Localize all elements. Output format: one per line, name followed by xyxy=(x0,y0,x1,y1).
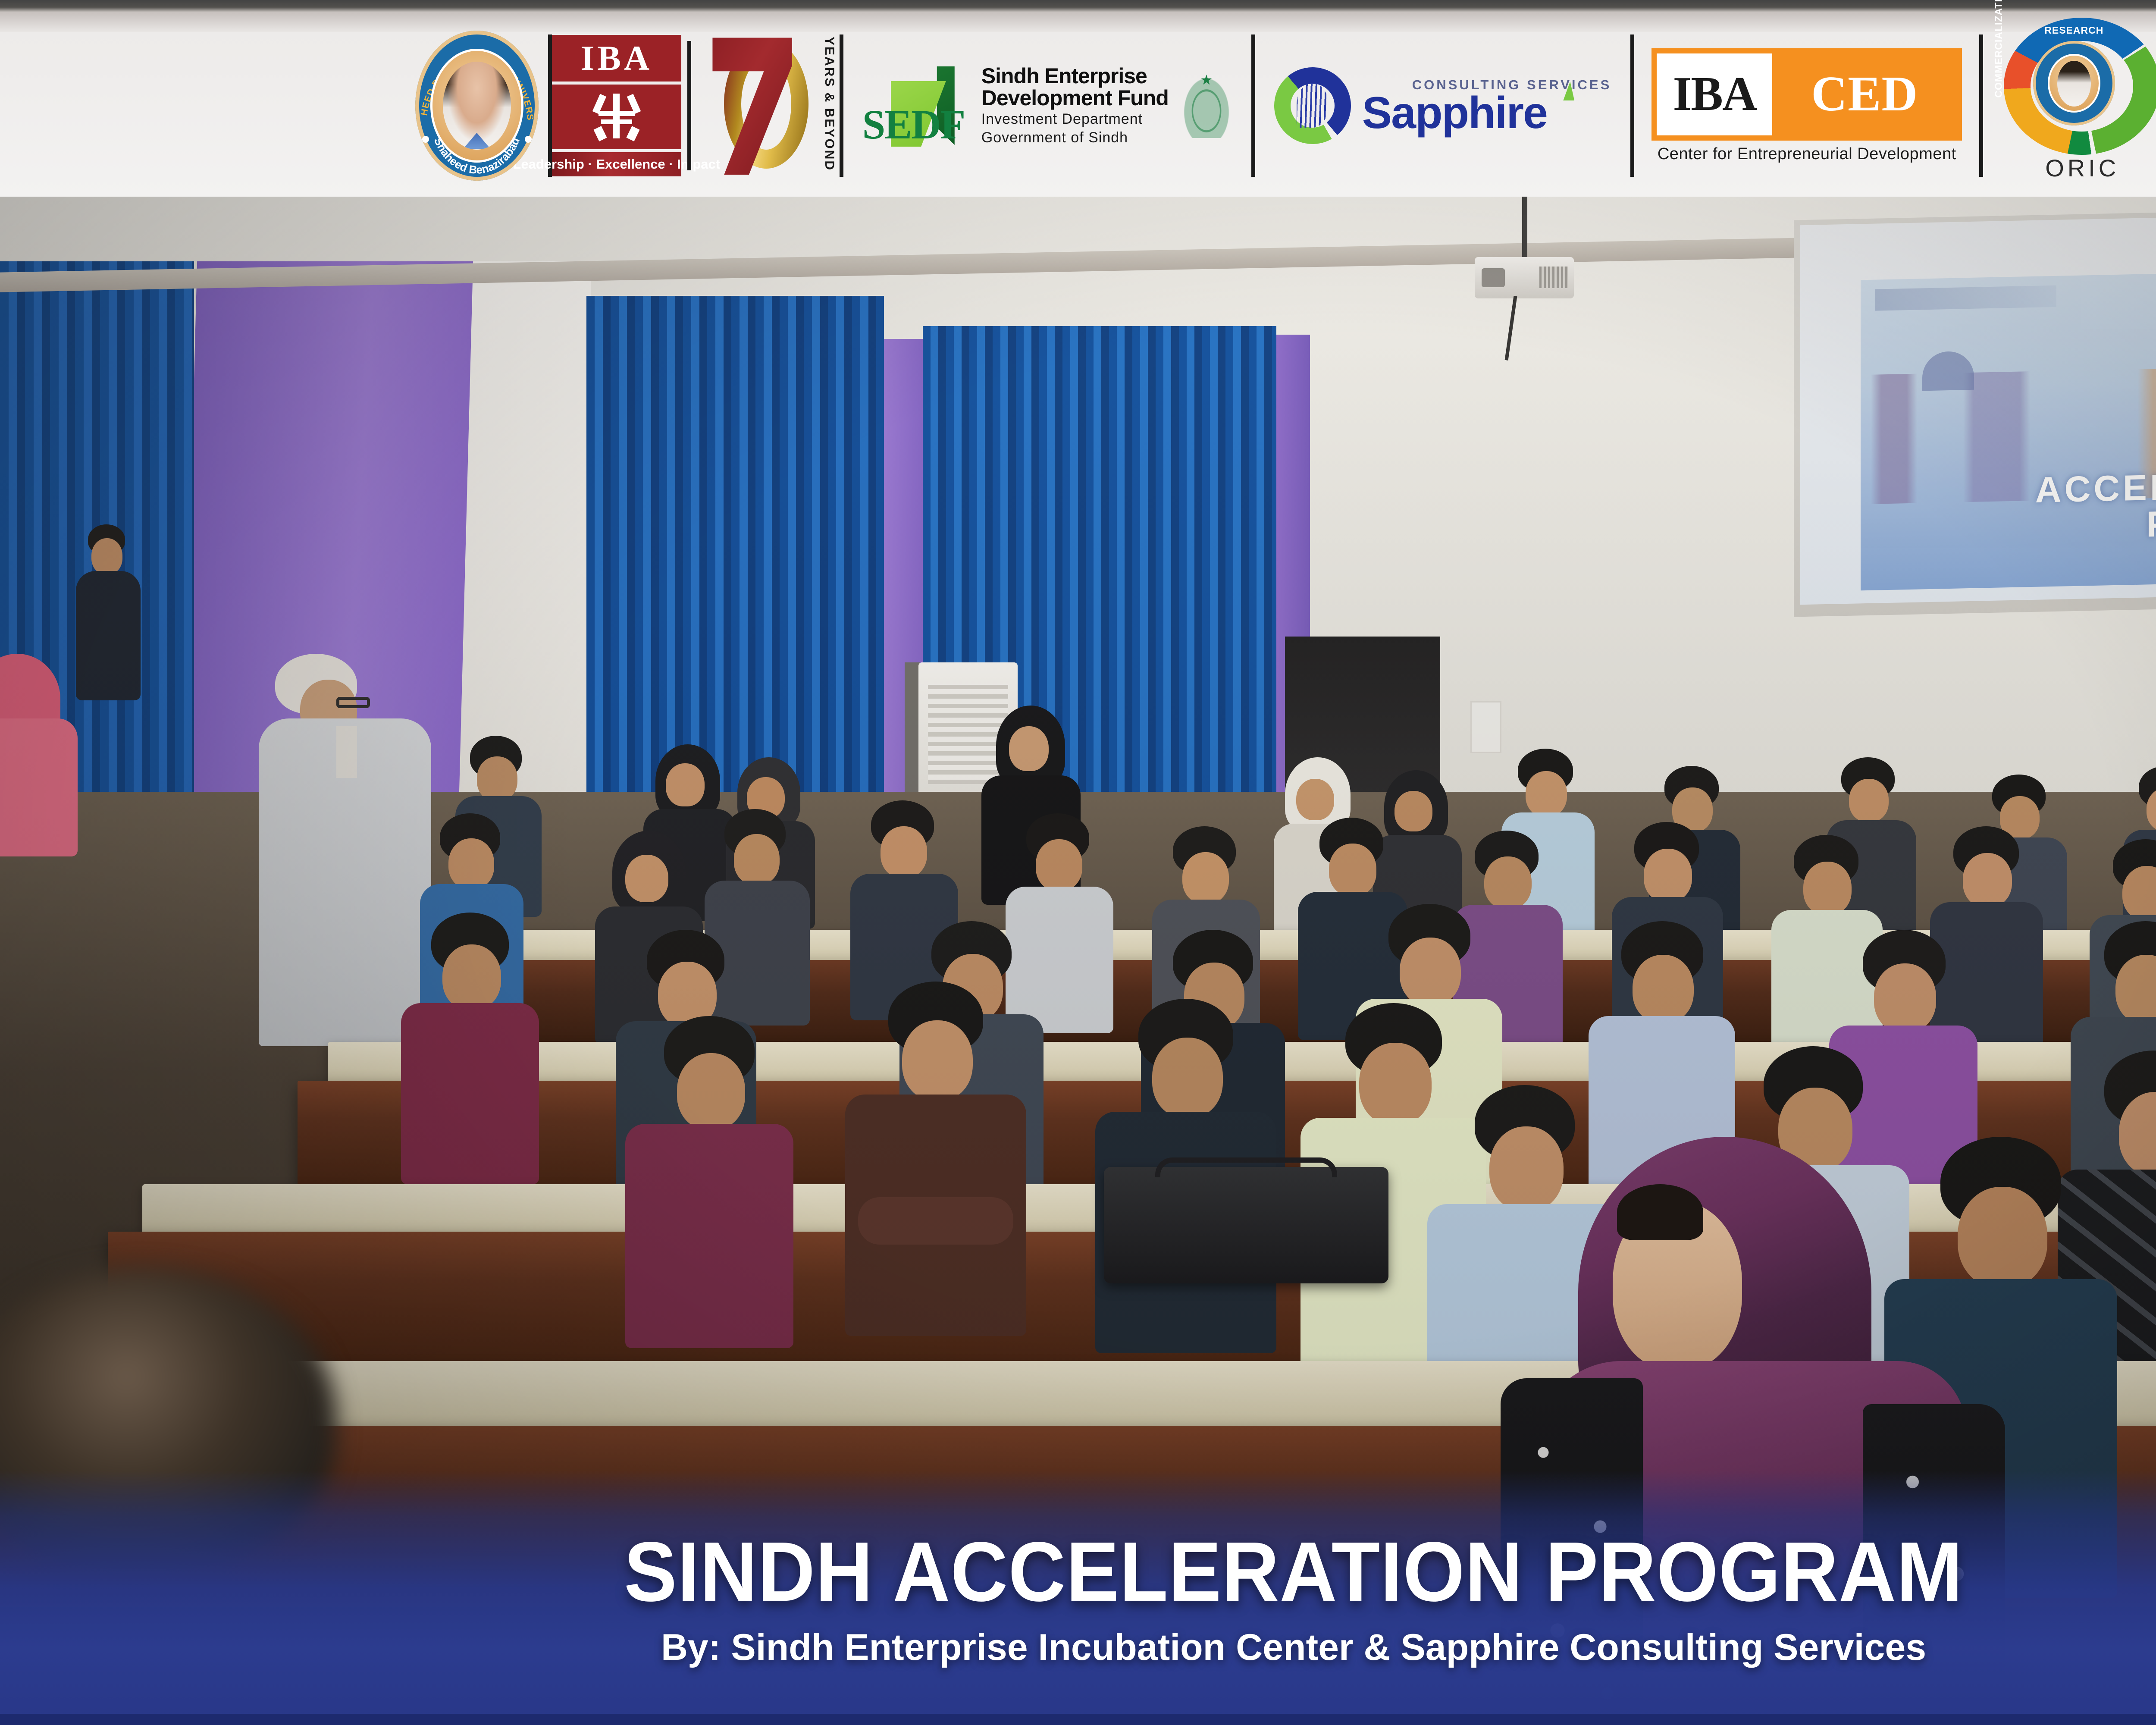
logo-sapphire: CONSULTING SERVICES Sapphire xyxy=(1255,15,1630,197)
iba-monogram-icon xyxy=(593,94,640,140)
ced-letters: CED xyxy=(1811,66,1918,123)
logo-iba-70: IBA Leadership · Excellence · Impact xyxy=(552,15,840,197)
sedf-acronym: SEDF xyxy=(862,106,965,143)
sedf-line4: Government of Sindh xyxy=(981,129,1169,146)
banner-bottom-edge xyxy=(0,1714,2156,1725)
oric-inner-crest-icon xyxy=(2033,41,2115,125)
govt-of-sindh-emblem-icon xyxy=(1181,73,1232,138)
sapphire-swirl-icon xyxy=(1274,67,1351,144)
oric-logo-icon: RESEARCH INNOVATION COMMERCIALIZATION OR… xyxy=(1996,15,2156,196)
oric-label-commercialization: COMMERCIALIZATION xyxy=(1993,0,2005,98)
logo-divider-3 xyxy=(1251,34,1255,177)
iba-letters: IBA xyxy=(580,41,652,76)
event-poster: SHAHEED BENAZIR BHUTTO UNIVERSITY Shahee… xyxy=(0,0,2156,1725)
sedf-line3: Investment Department xyxy=(981,111,1169,128)
iba-logo-icon: IBA Leadership · Excellence · Impact xyxy=(552,35,681,176)
logo-divider-1 xyxy=(548,34,552,177)
logo-divider-5 xyxy=(1979,34,1983,177)
oric-wordmark: ORIC xyxy=(1996,154,2156,182)
ced-iba-letters: IBA xyxy=(1673,66,1756,122)
logo-iba-ced: IBA CED Center for Entrepreneurial Devel… xyxy=(1634,15,1979,197)
iba-70-years-label: YEARS & BEYOND xyxy=(822,37,837,171)
logo-oric: RESEARCH INNOVATION COMMERCIALIZATION OR… xyxy=(1983,15,2156,197)
sedf-logo-icon: SEDF Sindh Enterprise Development Fund I… xyxy=(862,54,1232,157)
logo-sedf: SEDF Sindh Enterprise Development Fund I… xyxy=(843,15,1251,197)
logo-divider-1b xyxy=(687,41,691,170)
logo-divider-4 xyxy=(1630,34,1634,177)
title-banner: SINDH ACCELERATION PROGRAM By: Sindh Ent… xyxy=(0,1471,2156,1725)
sedf-line2: Development Fund xyxy=(981,87,1169,109)
iba-70-years-icon: YEARS & BEYOND xyxy=(697,28,840,183)
iba-ced-logo-icon: IBA CED Center for Entrepreneurial Devel… xyxy=(1651,48,1962,163)
sedf-line1: Sindh Enterprise xyxy=(981,65,1169,87)
ced-caption: Center for Entrepreneurial Development xyxy=(1651,145,1962,163)
sapphire-logo-icon: CONSULTING SERVICES Sapphire xyxy=(1274,56,1611,155)
sbbu-crest-icon: SHAHEED BENAZIR BHUTTO UNIVERSITY Shahee… xyxy=(406,28,548,183)
sapphire-wordmark: Sapphire xyxy=(1362,93,1611,134)
sponsor-logo-bar: SHAHEED BENAZIR BHUTTO UNIVERSITY Shahee… xyxy=(0,0,2156,197)
oric-label-research: RESEARCH xyxy=(2044,25,2103,36)
logo-strip: SHAHEED BENAZIR BHUTTO UNIVERSITY Shahee… xyxy=(406,0,2156,197)
banner-title: SINDH ACCELERATION PROGRAM xyxy=(624,1530,1963,1614)
logo-sbbu-crest: SHAHEED BENAZIR BHUTTO UNIVERSITY Shahee… xyxy=(406,15,548,197)
banner-subtitle: By: Sindh Enterprise Incubation Center &… xyxy=(661,1629,1926,1666)
